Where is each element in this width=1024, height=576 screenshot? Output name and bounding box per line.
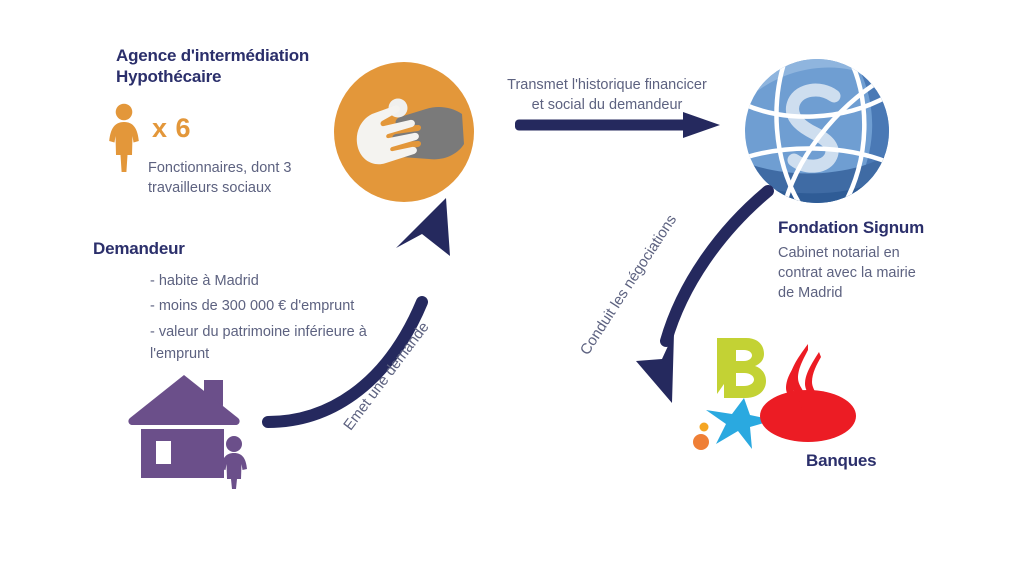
agency-staff-count: x 6 bbox=[152, 113, 191, 144]
foundation-title: Fondation Signum bbox=[778, 217, 998, 238]
woman-figure-icon bbox=[104, 103, 144, 173]
foundation-note: Cabinet notarial en contrat avec la mair… bbox=[778, 243, 953, 303]
transmit-flow-label-line1: Transmet l'historique financicer bbox=[493, 76, 721, 96]
agency-title: Agence d'intermédiation Hypothécaire bbox=[116, 45, 356, 88]
globe-sphere-logo-icon bbox=[742, 56, 892, 206]
diagram-canvas: Agence d'intermédiation Hypothécaire x 6… bbox=[0, 0, 1024, 576]
transmit-flow-label: Transmet l'historique financicer et soci… bbox=[493, 76, 721, 115]
agency-title-line1: Agence d'intermédiation bbox=[116, 45, 356, 66]
agency-staff-note-line1: Fonctionnaires, dont 3 bbox=[148, 158, 348, 178]
agency-title-line2: Hypothécaire bbox=[116, 66, 356, 87]
helping-hands-icon bbox=[334, 62, 474, 202]
straight-arrow-right-icon bbox=[515, 112, 720, 138]
foundation-note-line1: Cabinet notarial en bbox=[778, 243, 953, 263]
foundation-note-line2: contrat avec la mairie bbox=[778, 263, 953, 283]
foundation-note-line3: de Madrid bbox=[778, 283, 953, 303]
banks-title: Banques bbox=[806, 450, 956, 471]
house-with-person-icon bbox=[128, 372, 258, 490]
